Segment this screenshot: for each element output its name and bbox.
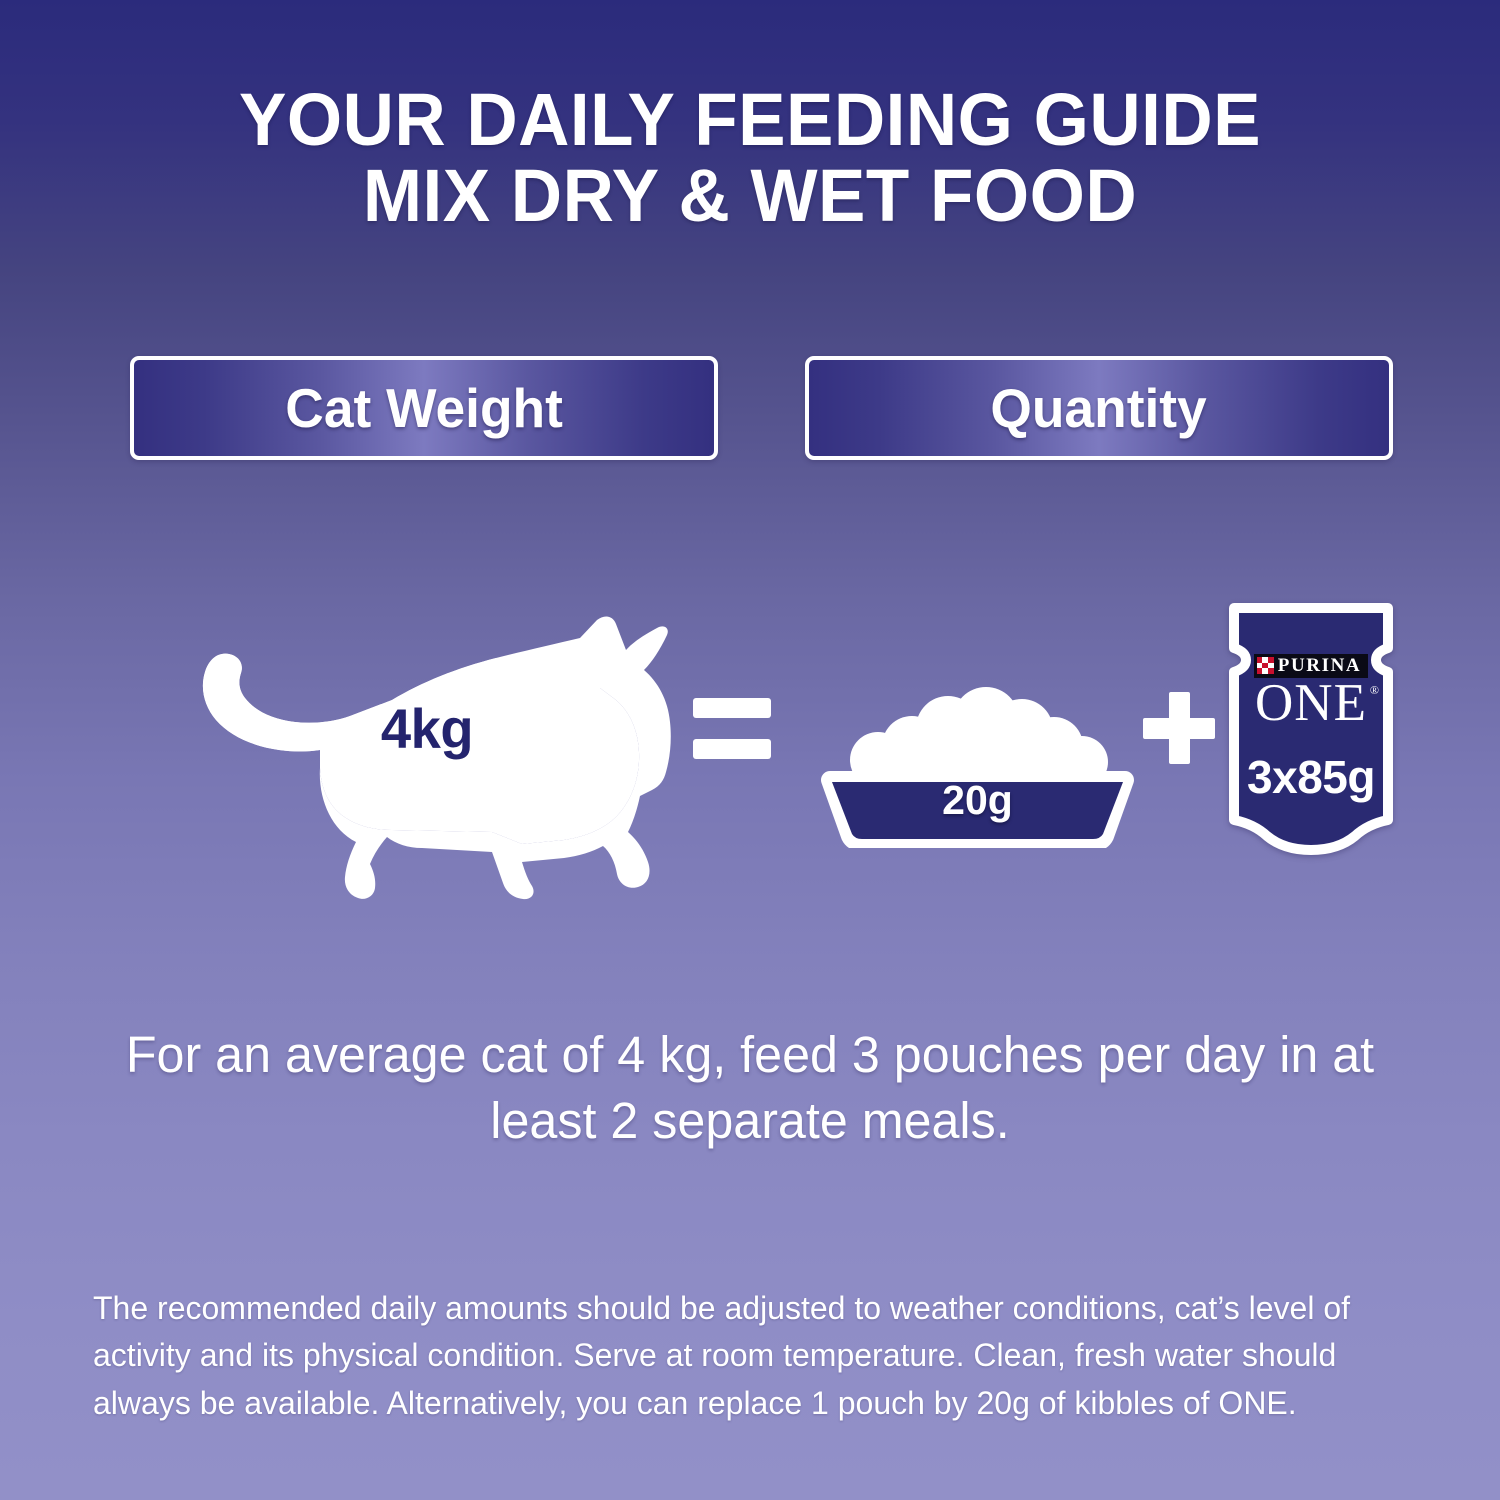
column-headers: Cat Weight Quantity	[0, 356, 1500, 460]
header-box-cat-weight: Cat Weight	[130, 356, 718, 460]
header-label-quantity: Quantity	[991, 376, 1207, 440]
equals-bar-top	[693, 698, 771, 718]
page-title: YOUR DAILY FEEDING GUIDE MIX DRY & WET F…	[0, 82, 1500, 234]
title-line-2: MIX DRY & WET FOOD	[30, 158, 1470, 234]
dry-food-amount: 20g	[800, 777, 1155, 824]
plus-icon	[1143, 692, 1215, 764]
equals-bar-bottom	[693, 739, 771, 759]
cat-silhouette-group: 4kg	[92, 600, 702, 900]
wet-food-pouch-group: PURINA ONE® 3x85g	[1218, 592, 1404, 862]
disclaimer-text: The recommended daily amounts should be …	[93, 1285, 1413, 1427]
food-bowl-group: 20g	[800, 668, 1155, 848]
header-box-quantity: Quantity	[805, 356, 1393, 460]
equals-icon	[693, 698, 771, 760]
pouch-icon	[1218, 592, 1404, 862]
feeding-equation: 4kg	[0, 580, 1500, 900]
feeding-guide-infographic: YOUR DAILY FEEDING GUIDE MIX DRY & WET F…	[0, 0, 1500, 1500]
feeding-statement: For an average cat of 4 kg, feed 3 pouch…	[80, 1022, 1420, 1155]
title-line-1: YOUR DAILY FEEDING GUIDE	[30, 82, 1470, 158]
cat-weight-value: 4kg	[131, 696, 723, 761]
plus-bar-vertical	[1169, 692, 1190, 764]
header-label-cat-weight: Cat Weight	[285, 376, 563, 440]
